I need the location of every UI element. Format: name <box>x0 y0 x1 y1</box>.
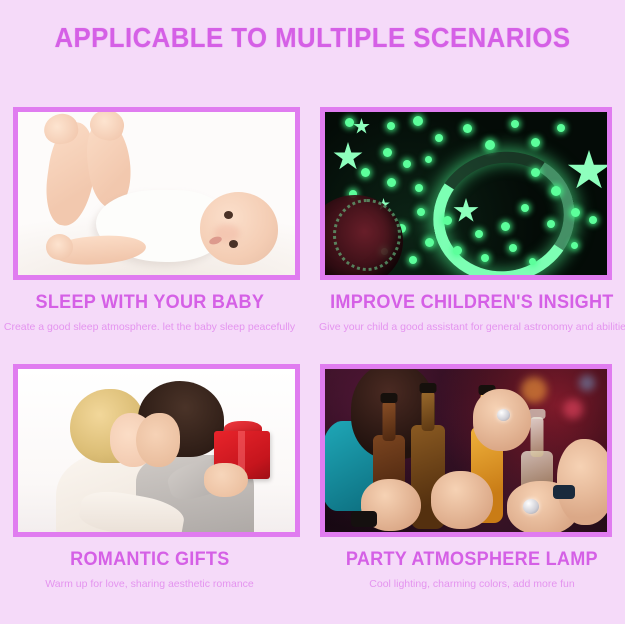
scenario-grid: SLEEP WITH YOUR BABY Create a good sleep… <box>0 103 625 617</box>
scenario-card-improve-childrens-insight: IMPROVE CHILDREN'S INSIGHT Give your chi… <box>313 103 625 360</box>
photo-frame-party <box>320 364 612 537</box>
photo-frame-baby <box>13 107 300 280</box>
promo-page: APPLICABLE TO MULTIPLE SCENARIOS <box>0 0 625 624</box>
scenario-card-romantic-gifts: ROMANTIC GIFTS Warm up for love, sharing… <box>0 360 313 617</box>
scenario-card-sleep-with-your-baby: SLEEP WITH YOUR BABY Create a good sleep… <box>0 103 313 360</box>
photo-frame-couple <box>13 364 300 537</box>
scenario-subtitle: Cool lighting, charming colors, add more… <box>313 578 625 590</box>
scenario-subtitle: Give your child a good assistant for gen… <box>313 321 625 333</box>
scenario-heading: PARTY ATMOSPHERE LAMP <box>321 549 617 571</box>
baby-photo <box>18 112 295 275</box>
scenario-heading: SLEEP WITH YOUR BABY <box>8 292 305 314</box>
scenario-card-party-atmosphere-lamp: PARTY ATMOSPHERE LAMP Cool lighting, cha… <box>313 360 625 617</box>
couple-photo <box>18 369 295 532</box>
scenario-heading: IMPROVE CHILDREN'S INSIGHT <box>321 292 617 314</box>
scenario-subtitle: Create a good sleep atmosphere. let the … <box>0 321 313 333</box>
scenario-heading: ROMANTIC GIFTS <box>8 549 305 571</box>
photo-frame-star-projection <box>320 107 612 280</box>
page-title: APPLICABLE TO MULTIPLE SCENARIOS <box>25 22 600 54</box>
party-photo <box>325 369 607 532</box>
scenario-subtitle: Warm up for love, sharing aesthetic roma… <box>0 578 313 590</box>
star-projection-photo <box>325 112 607 275</box>
